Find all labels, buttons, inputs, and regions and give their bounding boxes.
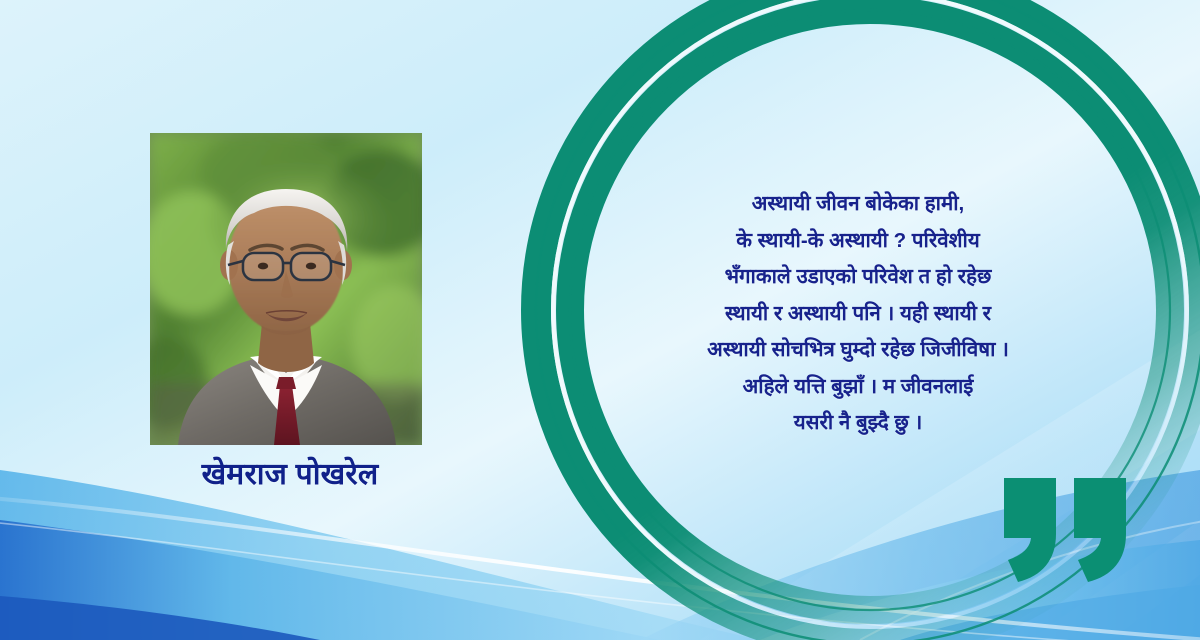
- portrait-photo: [150, 133, 422, 445]
- person-name: खेमराज पोखरेल: [60, 458, 520, 493]
- quote-line-7: यसरी नै बुझ्दै छु ।: [632, 405, 1084, 442]
- quote-banner: खेमराज पोखरेल अस्थायी जीवन बोकेका हामी, …: [0, 0, 1200, 640]
- closing-quote-icon: [1002, 478, 1134, 582]
- quote-text: अस्थायी जीवन बोकेका हामी, के स्थायी-के अ…: [632, 186, 1084, 442]
- quote-line-2: के स्थायी-के अस्थायी ? परिवेशीय: [632, 223, 1084, 260]
- quote-line-3: भँगाकाले उडाएको परिवेश त हो रहेछ: [632, 259, 1084, 296]
- quote-line-5: अस्थायी सोचभित्र घुम्दो रहेछ जिजीविषा ।: [632, 332, 1084, 369]
- quote-line-4: स्थायी र अस्थायी पनि । यही स्थायी र: [632, 296, 1084, 333]
- quote-line-1: अस्थायी जीवन बोकेका हामी,: [632, 186, 1084, 223]
- quote-line-6: अहिले यत्ति बुझाँ । म जीवनलाई: [632, 369, 1084, 406]
